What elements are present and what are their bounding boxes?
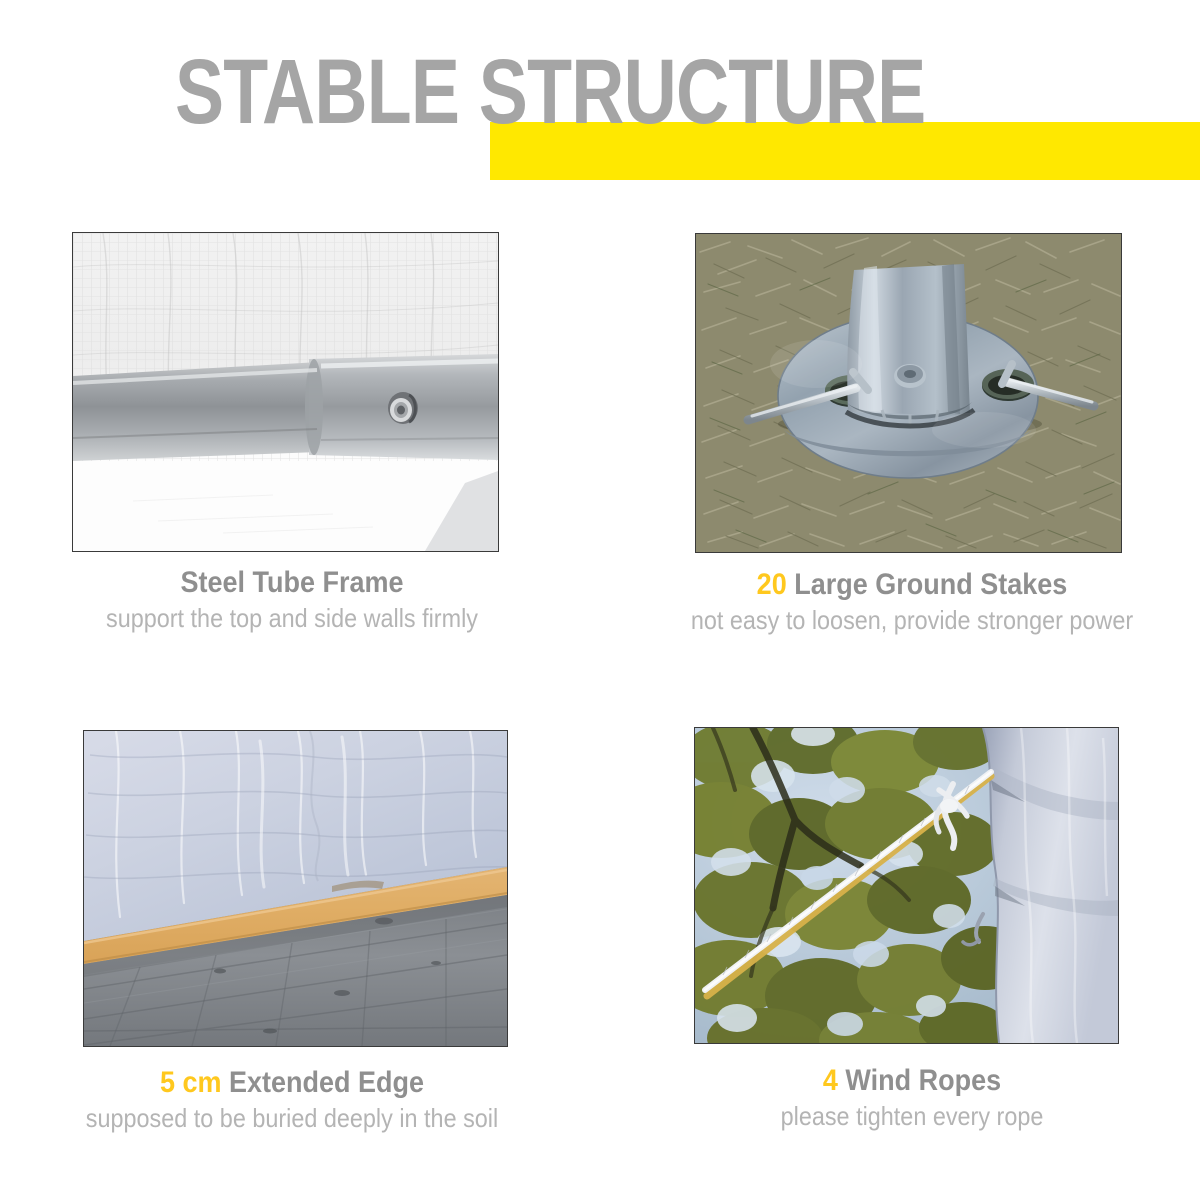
extended-edge-tarp-photo <box>83 730 508 1047</box>
caption-title-text-ground-stakes: Large Ground Stakes <box>794 568 1067 601</box>
caption-wind-ropes: 4 Wind Ropes please tighten every rope <box>632 1064 1192 1132</box>
infographic-canvas: STABLE STRUCTURE <box>0 0 1200 1200</box>
caption-subtitle-wind-ropes: please tighten every rope <box>660 1100 1164 1132</box>
caption-highlight-ground-stakes: 20 <box>757 568 787 601</box>
caption-highlight-extended-edge: 5 cm <box>160 1066 222 1099</box>
caption-title-steel-tube: Steel Tube Frame <box>40 566 544 600</box>
caption-ground-stakes: 20 Large Ground Stakes not easy to loose… <box>632 568 1192 636</box>
caption-title-text-steel-tube: Steel Tube Frame <box>180 566 403 599</box>
steel-tube-frame-photo <box>72 232 499 552</box>
caption-title-ground-stakes: 20 Large Ground Stakes <box>660 568 1164 602</box>
page-title: STABLE STRUCTURE <box>175 46 925 138</box>
ground-stake-base-plate-photo <box>695 233 1122 553</box>
caption-steel-tube: Steel Tube Frame support the top and sid… <box>12 566 572 634</box>
caption-extended-edge: 5 cm Extended Edge supposed to be buried… <box>12 1066 572 1134</box>
caption-subtitle-ground-stakes: not easy to loosen, provide stronger pow… <box>660 604 1164 636</box>
wind-rope-guyline-photo <box>694 727 1119 1044</box>
caption-subtitle-extended-edge: supposed to be buried deeply in the soil <box>40 1102 544 1134</box>
caption-title-extended-edge: 5 cm Extended Edge <box>40 1066 544 1100</box>
caption-title-text-wind-ropes: Wind Ropes <box>845 1064 1001 1097</box>
caption-subtitle-steel-tube: support the top and side walls firmly <box>40 602 544 634</box>
caption-title-text-extended-edge: Extended Edge <box>229 1066 424 1099</box>
caption-highlight-wind-ropes: 4 <box>823 1064 838 1097</box>
caption-title-wind-ropes: 4 Wind Ropes <box>660 1064 1164 1098</box>
